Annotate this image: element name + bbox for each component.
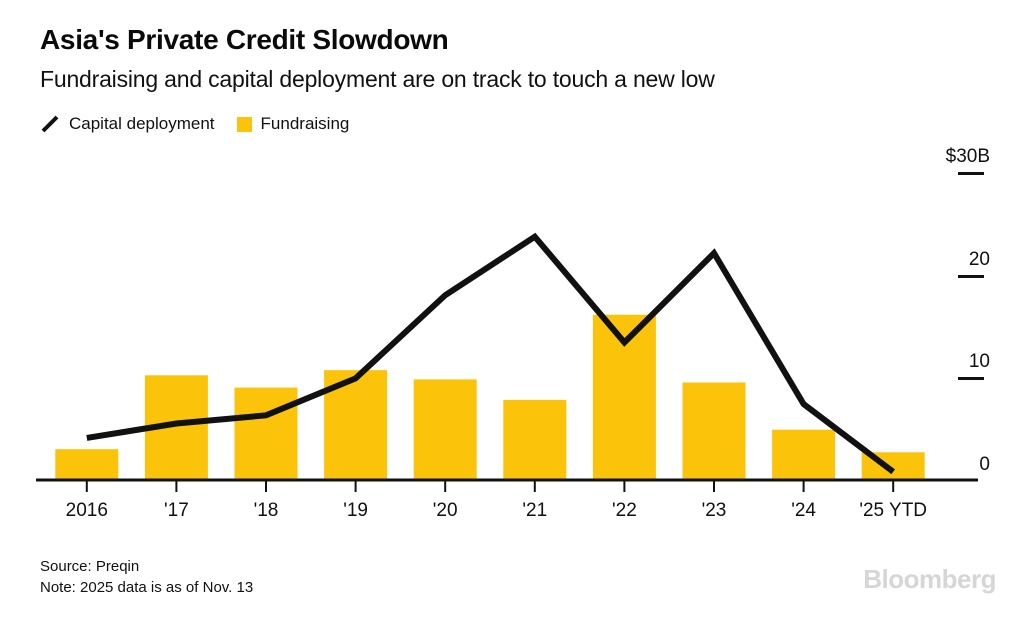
x-tick-label-25YTD: '25 YTD: [859, 500, 927, 522]
x-tick-label-20: '20: [433, 500, 458, 522]
bar-18: [235, 388, 298, 480]
y-tick-label-20: 20: [930, 249, 990, 271]
bar-25YTD: [862, 452, 925, 480]
x-tick-label-24: '24: [791, 500, 816, 522]
x-tick-label-21: '21: [522, 500, 547, 522]
chart-footnotes: Source: Preqin Note: 2025 data is as of …: [40, 556, 253, 598]
legend-label-fundraising: Fundraising: [261, 114, 350, 134]
legend-item-capital-deployment[interactable]: Capital deployment: [40, 114, 215, 134]
x-tick-label-19: '19: [343, 500, 368, 522]
legend-item-fundraising[interactable]: Fundraising: [237, 114, 350, 134]
data-note: Note: 2025 data is as of Nov. 13: [40, 577, 253, 598]
x-tick-label-23: '23: [702, 500, 727, 522]
x-tick-label-2016: 2016: [66, 500, 108, 522]
x-tick-label-22: '22: [612, 500, 637, 522]
bar-2016: [55, 449, 118, 480]
source-note: Source: Preqin: [40, 556, 253, 577]
bar-24: [772, 430, 835, 480]
chart-page: Asia's Private Credit Slowdown Fundraisi…: [0, 0, 1024, 619]
chart-legend: Capital deployment Fundraising: [40, 112, 349, 136]
y-tick-dash-20: [958, 275, 984, 278]
x-tick-label-17: '17: [164, 500, 189, 522]
bar-19: [324, 370, 387, 480]
y-tick-dash-10: [958, 377, 984, 380]
y-tick-dash-30: [958, 172, 984, 175]
y-tick-label-0: 0: [930, 454, 990, 476]
bar-20: [414, 379, 477, 480]
capital-deployment-line: [87, 237, 893, 472]
bar-22: [593, 315, 656, 480]
page-title: Asia's Private Credit Slowdown: [40, 24, 448, 56]
bar-23: [683, 382, 746, 480]
y-tick-label-10: 10: [930, 351, 990, 373]
square-swatch-icon: [237, 117, 252, 132]
x-tick-label-18: '18: [254, 500, 279, 522]
bar-17: [145, 375, 208, 480]
bloomberg-watermark-logo: Bloomberg: [863, 564, 996, 595]
chart-subtitle: Fundraising and capital deployment are o…: [40, 66, 715, 93]
line-slash-icon: [40, 114, 60, 134]
legend-label-capital-deployment: Capital deployment: [69, 114, 215, 134]
y-tick-label-30: $30B: [930, 146, 990, 168]
bar-21: [503, 400, 566, 480]
